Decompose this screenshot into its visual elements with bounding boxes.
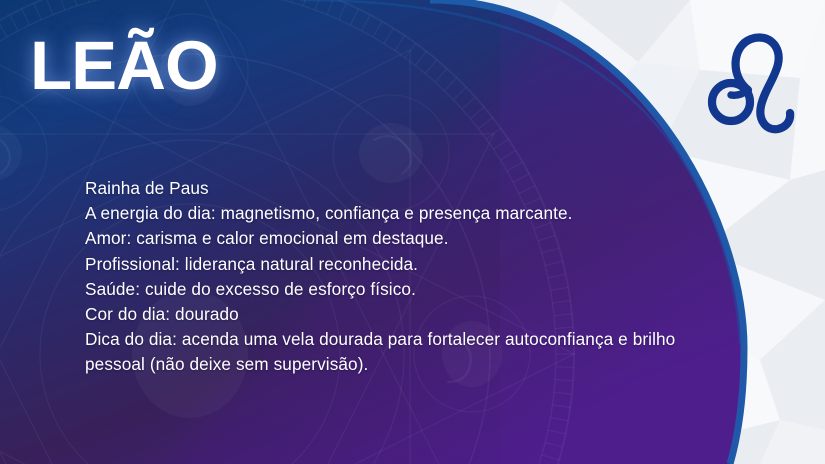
reading-line: Cor do dia: dourado bbox=[85, 302, 725, 327]
page-title: LEÃO bbox=[30, 31, 218, 100]
reading-line: Rainha de Paus bbox=[85, 176, 725, 201]
reading-line: Profissional: liderança natural reconhec… bbox=[85, 252, 725, 277]
reading-line: Amor: carisma e calor emocional em desta… bbox=[85, 226, 725, 251]
reading-line: Saúde: cuide do excesso de esforço físic… bbox=[85, 277, 725, 302]
horoscope-card: LEÃO Rainha de Paus A energia do dia: ma… bbox=[0, 0, 825, 464]
horoscope-reading: Rainha de Paus A energia do dia: magneti… bbox=[85, 176, 725, 378]
reading-line: Dica do dia: acenda uma vela dourada par… bbox=[85, 327, 725, 377]
leo-zodiac-glyph-icon bbox=[704, 28, 809, 143]
reading-line: A energia do dia: magnetismo, confiança … bbox=[85, 201, 725, 226]
